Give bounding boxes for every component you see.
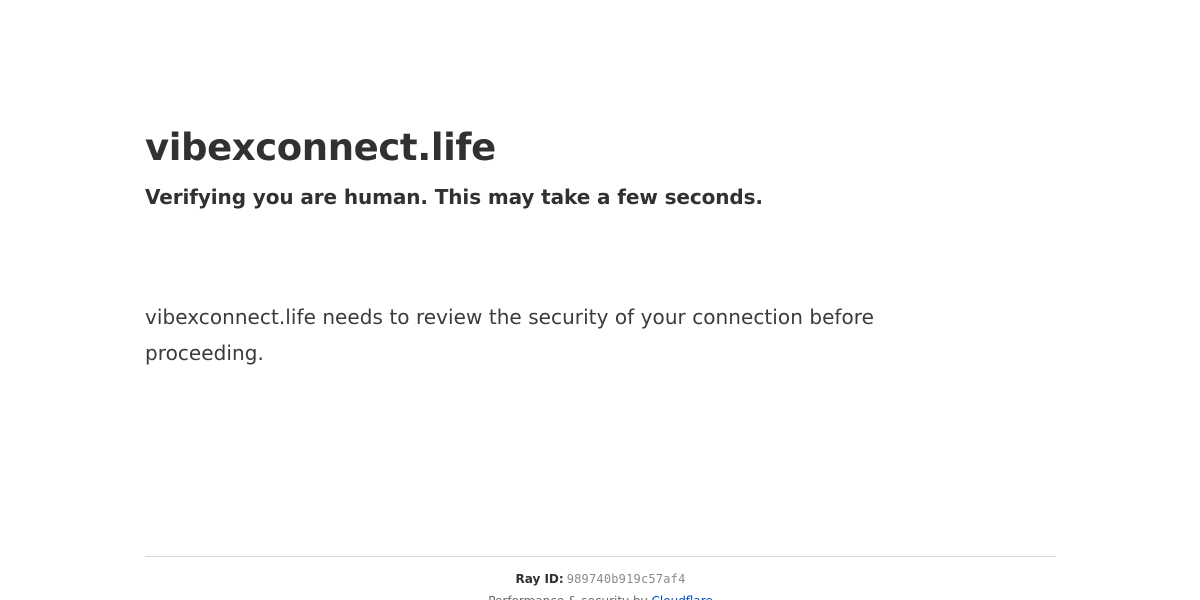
page-title: vibexconnect.life (145, 126, 1056, 170)
content-wrapper: vibexconnect.life Verifying you are huma… (145, 0, 1056, 600)
challenge-page: vibexconnect.life Verifying you are huma… (0, 0, 1200, 600)
verification-status-text: Verifying you are human. This may take a… (145, 170, 1056, 210)
security-review-description: vibexconnect.life needs to review the se… (145, 299, 945, 371)
attribution-prefix: Performance & security by (488, 594, 647, 600)
ray-id-label: Ray ID: (516, 572, 564, 586)
attribution-row: Performance & security by Cloudflare (145, 587, 1056, 600)
ray-id-row: Ray ID:989740b919c57af4 (145, 571, 1056, 587)
turnstile-challenge-widget[interactable] (145, 234, 445, 299)
cloudflare-link[interactable]: Cloudflare (652, 594, 713, 600)
ray-id-value: 989740b919c57af4 (564, 572, 686, 586)
main-content: vibexconnect.life Verifying you are huma… (145, 126, 1056, 371)
footer: Ray ID:989740b919c57af4 Performance & se… (145, 556, 1056, 600)
